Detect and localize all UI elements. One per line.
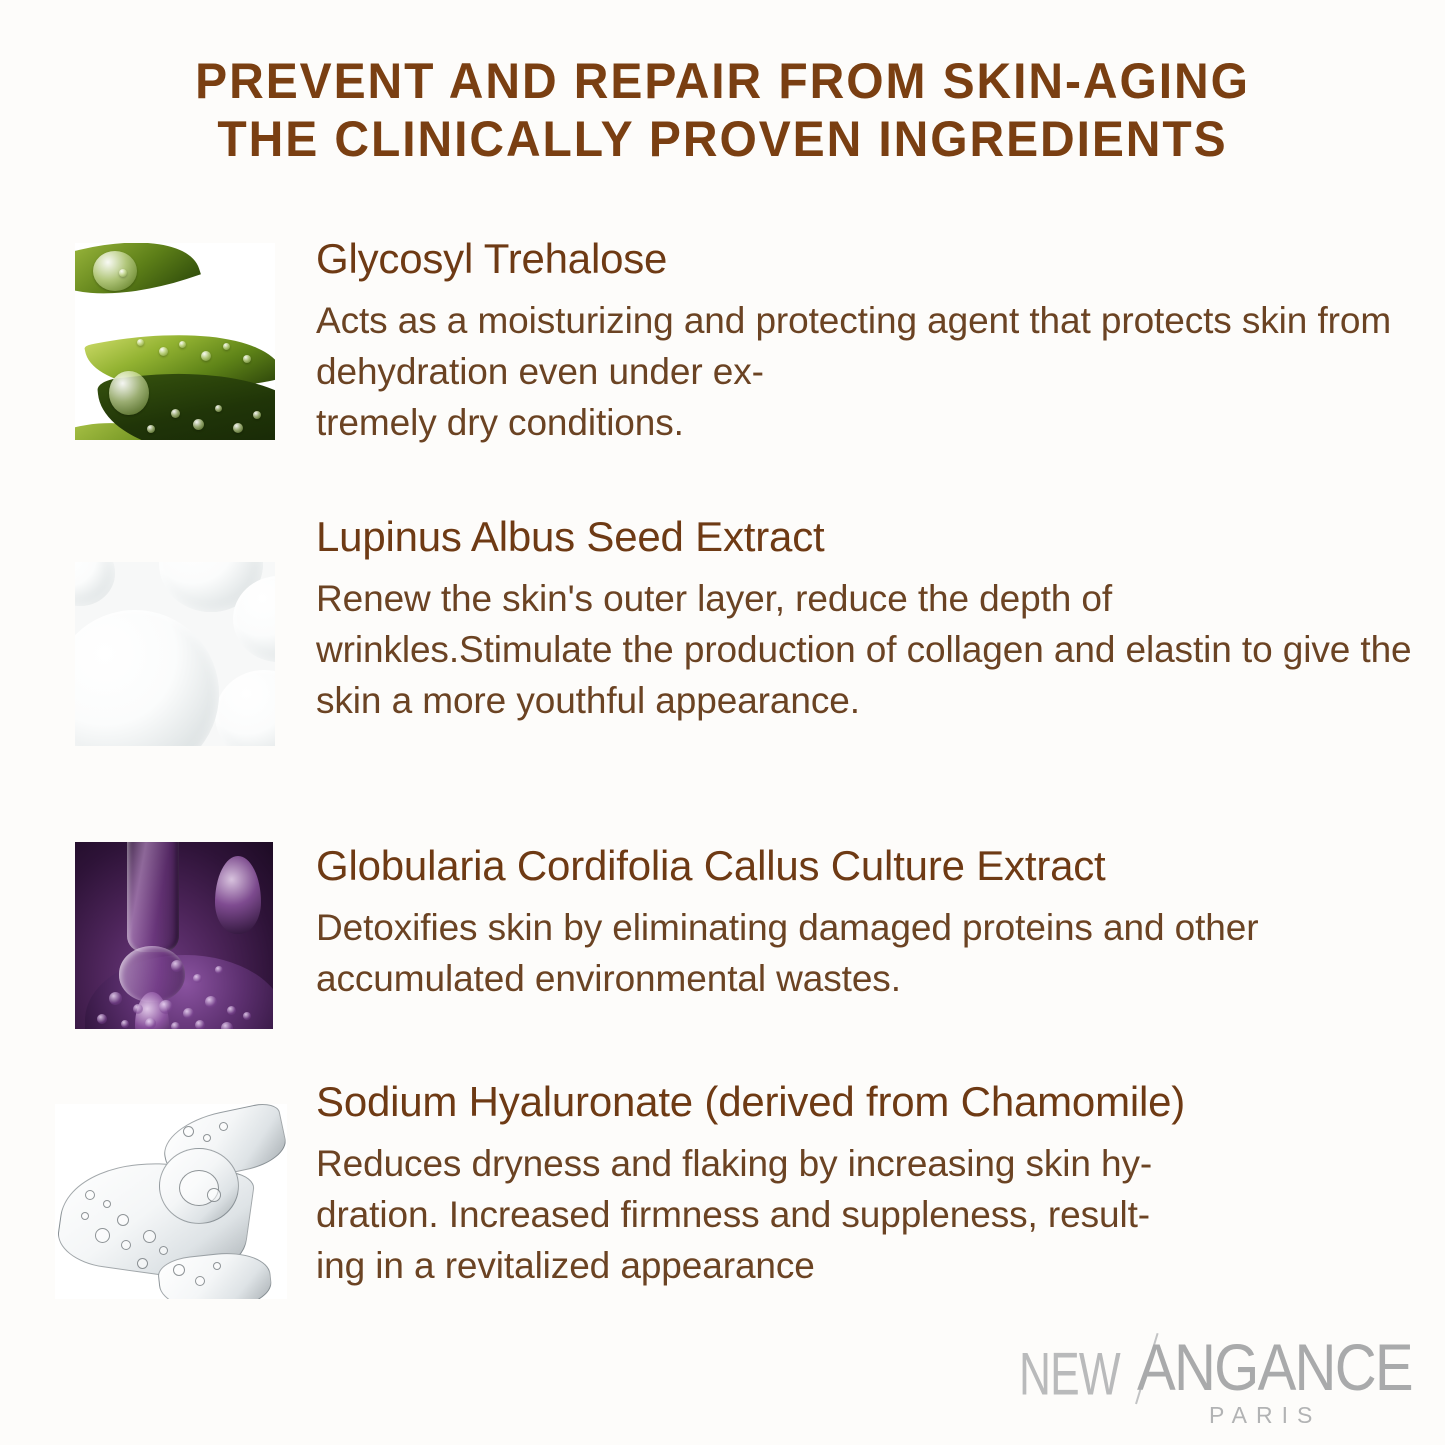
- ingredient-copy: Globularia Cordifolia Callus Culture Ext…: [316, 842, 1416, 1004]
- ingredient-description: Acts as a moisturizing and protecting ag…: [316, 295, 1416, 448]
- ingredient-name: Lupinus Albus Seed Extract: [316, 513, 1416, 561]
- ingredient-name: Glycosyl Trehalose: [316, 235, 1416, 283]
- brand-logo-angance: ANGANCE: [1137, 1334, 1412, 1400]
- brand-logo-new: NEW: [1019, 1344, 1120, 1404]
- ingredient-description: Detoxifies skin by eliminating damaged p…: [316, 902, 1416, 1004]
- ingredient-infographic-poster: PREVENT AND REPAIR FROM SKIN-AGING THE C…: [0, 0, 1445, 1445]
- ingredient-name: Globularia Cordifolia Callus Culture Ext…: [316, 842, 1416, 890]
- brand-logo: NEW ANGANCE PARIS: [1013, 1332, 1413, 1436]
- brand-logo-wordmark: NEW ANGANCE: [1013, 1332, 1413, 1402]
- ingredient-description: Reduces dryness and flaking by increasin…: [316, 1138, 1416, 1291]
- ingredient-description: Renew the skin's outer layer, reduce the…: [316, 573, 1416, 726]
- ingredient-copy: Lupinus Albus Seed Extract Renew the ski…: [316, 513, 1416, 726]
- page-title: PREVENT AND REPAIR FROM SKIN-AGING THE C…: [0, 52, 1445, 168]
- ingredient-name: Sodium Hyaluronate (derived from Chamomi…: [316, 1078, 1416, 1126]
- ingredient-image-clear-gel-serum-with-bubbles: [55, 1104, 287, 1299]
- ingredient-image-clear-white-bubbles: [75, 562, 275, 746]
- ingredient-image-purple-ampoule-droplet: [75, 842, 273, 1029]
- brand-logo-tagline-paris: PARIS: [1209, 1404, 1321, 1427]
- page-title-line-1: PREVENT AND REPAIR FROM SKIN-AGING: [29, 52, 1416, 110]
- ingredient-copy: Glycosyl Trehalose Acts as a moisturizin…: [316, 235, 1416, 448]
- ingredient-image-green-leaf-with-dew-drops: [75, 243, 275, 440]
- ingredient-copy: Sodium Hyaluronate (derived from Chamomi…: [316, 1078, 1416, 1291]
- page-title-line-2: THE CLINICALLY PROVEN INGREDIENTS: [29, 110, 1416, 168]
